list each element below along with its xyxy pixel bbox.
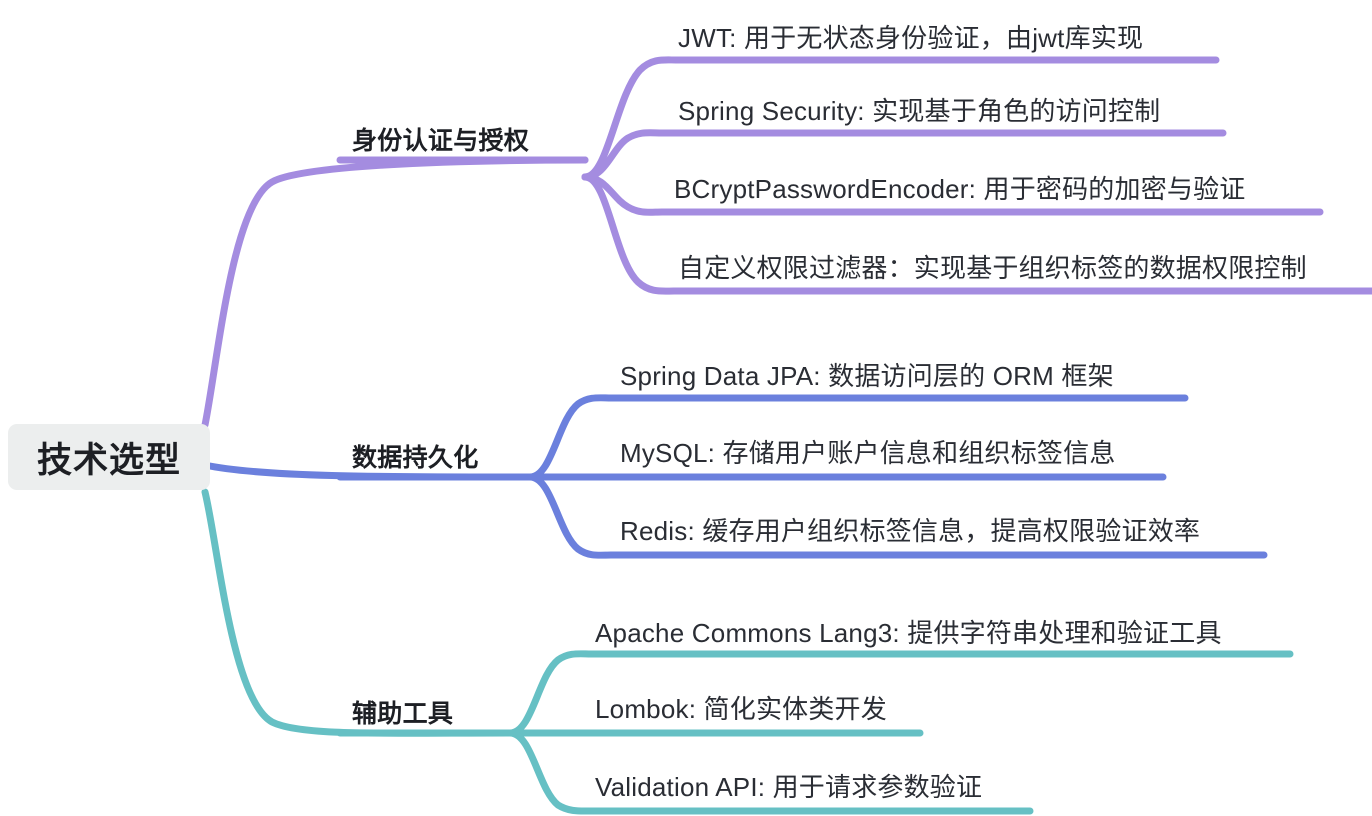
leaf-jwt[interactable]: JWT: 用于无状态身份验证，由jwt库实现 xyxy=(678,18,1143,55)
branch-topic-auxiliary-tools[interactable]: 辅助工具 xyxy=(352,694,453,730)
leaf-redis[interactable]: Redis: 缓存用户组织标签信息，提高权限验证效率 xyxy=(620,511,1200,548)
leaf-apache-commons-lang3[interactable]: Apache Commons Lang3: 提供字符串处理和验证工具 xyxy=(595,613,1222,650)
edge-root-to-branch-1 xyxy=(205,160,585,425)
leaf-validation-api[interactable]: Validation API: 用于请求参数验证 xyxy=(595,767,982,804)
branch-topic-data-persistence[interactable]: 数据持久化 xyxy=(352,438,479,474)
leaf-spring-data-jpa[interactable]: Spring Data JPA: 数据访问层的 ORM 框架 xyxy=(620,356,1114,393)
leaf-bcrypt-password-encoder[interactable]: BCryptPasswordEncoder: 用于密码的加密与验证 xyxy=(674,169,1246,206)
leaf-lombok[interactable]: Lombok: 简化实体类开发 xyxy=(595,689,887,726)
mindmap-canvas: 技术选型 身份认证与授权 JWT: 用于无状态身份验证，由jwt库实现 Spri… xyxy=(0,0,1372,816)
leaf-custom-permission-filter[interactable]: 自定义权限过滤器：实现基于组织标签的数据权限控制 xyxy=(678,248,1307,285)
branch-topic-identity-auth[interactable]: 身份认证与授权 xyxy=(352,121,529,157)
leaf-spring-security[interactable]: Spring Security: 实现基于角色的访问控制 xyxy=(678,91,1160,128)
leaf-mysql[interactable]: MySQL: 存储用户账户信息和组织标签信息 xyxy=(620,433,1116,470)
mindmap-root-node[interactable]: 技术选型 xyxy=(8,424,210,490)
